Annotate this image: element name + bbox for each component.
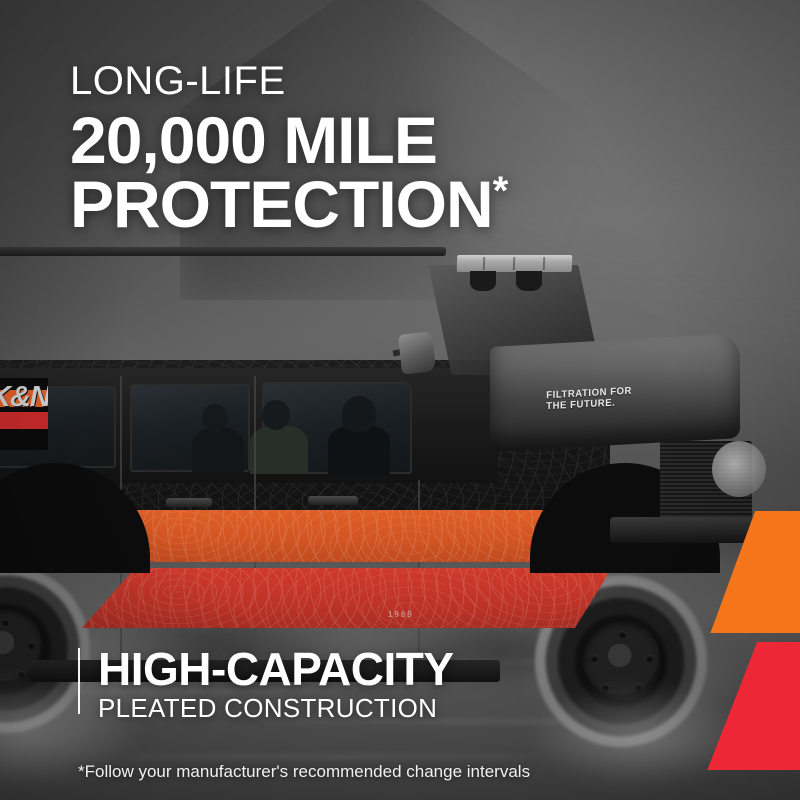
side-decal-red bbox=[82, 568, 612, 628]
kn-stripe-red bbox=[0, 412, 48, 429]
ground-motion-streak bbox=[120, 755, 540, 758]
advertisement-canvas: K&N. 1969 FI bbox=[0, 0, 800, 800]
kn-logo-badge: K&N. bbox=[0, 378, 48, 450]
passenger-head bbox=[262, 400, 290, 430]
driver-head bbox=[342, 396, 376, 432]
headline-eyebrow: LONG-LIFE bbox=[70, 58, 710, 104]
hub-bolt bbox=[2, 619, 9, 626]
light-bar-segment bbox=[483, 257, 485, 270]
wheel-spray-front bbox=[530, 685, 750, 785]
hub-bolt bbox=[646, 655, 653, 662]
light-bar-segment bbox=[513, 257, 515, 270]
headline-line-2-text: PROTECTION bbox=[70, 167, 493, 241]
hood-decal-text: FILTRATION FOR THE FUTURE. bbox=[546, 386, 632, 412]
subhead-divider-rule bbox=[78, 648, 80, 714]
side-mirror bbox=[398, 331, 436, 374]
driver-body bbox=[328, 426, 390, 476]
hub-bolt bbox=[591, 655, 598, 662]
hub-bolt bbox=[619, 631, 626, 638]
passenger-body bbox=[250, 426, 308, 474]
subhead-text-group: HIGH-CAPACITY PLEATED CONSTRUCTION bbox=[98, 645, 454, 723]
headline-asterisk: * bbox=[493, 169, 508, 213]
door-handle-rear bbox=[166, 498, 212, 507]
passenger-rear-body bbox=[192, 428, 244, 472]
light-bar-mount bbox=[470, 271, 496, 291]
topographic-pattern bbox=[82, 568, 612, 628]
hub-bolt bbox=[28, 642, 35, 649]
headline-block: LONG-LIFE 20,000 MILE PROTECTION* bbox=[70, 58, 710, 236]
door-handle-front bbox=[308, 496, 358, 505]
subhead-subtitle: PLEATED CONSTRUCTION bbox=[98, 693, 454, 723]
roof-rack bbox=[0, 247, 446, 256]
headline-line-2: PROTECTION* bbox=[70, 172, 710, 236]
headline-line-1: 20,000 MILE bbox=[70, 108, 710, 172]
vehicle-suv: K&N. 1969 FI bbox=[0, 245, 770, 665]
kn-logo-text: K&N. bbox=[0, 382, 48, 412]
front-bumper bbox=[610, 517, 762, 543]
light-bar-segment bbox=[543, 257, 545, 270]
light-bar-mount bbox=[516, 271, 542, 291]
passenger-rear-head bbox=[202, 404, 228, 432]
headlight bbox=[712, 441, 766, 497]
body-number-decal: 1969 bbox=[388, 610, 414, 619]
roof-light-bar bbox=[457, 255, 573, 272]
subhead-title: HIGH-CAPACITY bbox=[98, 645, 454, 693]
footnote-text: *Follow your manufacturer's recommended … bbox=[78, 762, 530, 782]
